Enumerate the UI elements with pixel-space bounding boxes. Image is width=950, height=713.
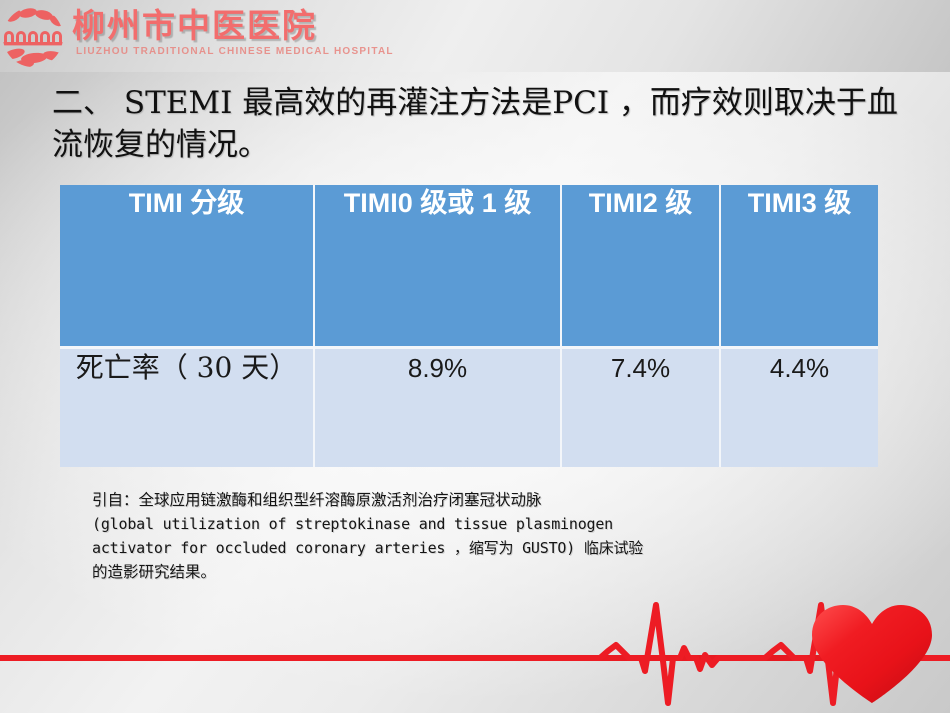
hospital-name-chinese: 柳州市中医医院 xyxy=(72,6,330,46)
hospital-circle-logo-icon xyxy=(2,6,64,68)
citation-line-3: activator for occluded coronary arteries… xyxy=(92,536,882,560)
table-cell-value-2: 4.4% xyxy=(720,347,878,467)
slide-canvas: 柳州市中医医院 LIUZHOU TRADITIONAL CHINESE MEDI… xyxy=(0,0,950,713)
hospital-name-english: LIUZHOU TRADITIONAL CHINESE MEDICAL HOSP… xyxy=(76,46,394,57)
hospital-name-chinese-text: 柳州市中医医院 xyxy=(72,6,330,46)
table-header-cell-1: TIMI0 级或 1 级 xyxy=(314,185,561,347)
citation-block: 引自：全球应用链激酶和组织型纤溶酶原激活剂治疗闭塞冠状动脉 (global ut… xyxy=(92,488,882,584)
table-row-label: 死亡率（ 30 天） xyxy=(60,347,314,467)
timi-mortality-table: TIMI 分级 TIMI0 级或 1 级 TIMI2 级 TIMI3 级 死亡率… xyxy=(60,185,878,467)
hospital-logo: 柳州市中医医院 LIUZHOU TRADITIONAL CHINESE MEDI… xyxy=(0,4,340,68)
ecg-heartbeat-line-icon xyxy=(0,605,950,703)
ecg-footer-graphic xyxy=(0,593,950,713)
citation-line-1: 引自：全球应用链激酶和组织型纤溶酶原激活剂治疗闭塞冠状动脉 xyxy=(92,488,882,512)
slide-header-band: 柳州市中医医院 LIUZHOU TRADITIONAL CHINESE MEDI… xyxy=(0,0,950,72)
table-header-cell-2: TIMI2 级 xyxy=(561,185,720,347)
table-cell-value-1: 7.4% xyxy=(561,347,720,467)
table-cell-value-0: 8.9% xyxy=(314,347,561,467)
table-header-cell-3: TIMI3 级 xyxy=(720,185,878,347)
table-header-cell-0: TIMI 分级 xyxy=(60,185,314,347)
page-title: 二、 STEMI 最高效的再灌注方法是PCI ，而疗效则取决于血流恢复的情况。 xyxy=(52,82,902,166)
citation-line-2: (global utilization of streptokinase and… xyxy=(92,512,882,536)
table-row: 死亡率（ 30 天） 8.9% 7.4% 4.4% xyxy=(60,347,878,467)
citation-line-4: 的造影研究结果。 xyxy=(92,560,882,584)
table-header-row: TIMI 分级 TIMI0 级或 1 级 TIMI2 级 TIMI3 级 xyxy=(60,185,878,347)
